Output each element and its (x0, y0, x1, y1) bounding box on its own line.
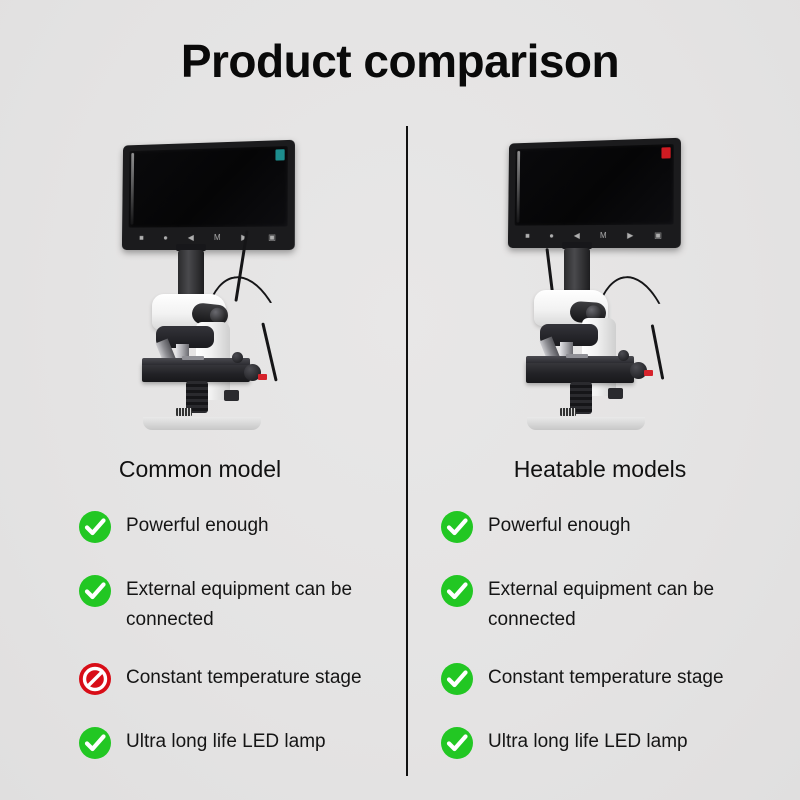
feature-row: External equipment can be connected (440, 573, 800, 635)
control-button-power[interactable]: ■ (525, 232, 530, 240)
stage-clip (182, 356, 204, 360)
feature-label: External equipment can be connected (488, 573, 738, 635)
control-button-mode[interactable]: M (214, 233, 221, 241)
lcd-monitor: ■ ● ◀ M ▶ ▣ (122, 140, 295, 250)
lcd-screen (129, 146, 288, 228)
control-button-prev[interactable]: ◀ (188, 234, 194, 242)
feature-row: Ultra long life LED lamp (440, 725, 800, 763)
power-switch[interactable] (608, 388, 623, 399)
check-circle-icon (78, 574, 112, 608)
feature-row: Constant temperature stage (440, 661, 800, 699)
monitor-control-bar: ■ ● ◀ M ▶ ▣ (129, 230, 286, 246)
product-image-heatable: ■ ● ◀ M ▶ ▣ (400, 126, 800, 451)
check-circle-icon (440, 726, 474, 760)
check-circle-icon (440, 510, 474, 544)
column-caption-heatable: Heatable models (400, 456, 800, 483)
base-label-plate (176, 408, 192, 416)
base-front-panel (527, 417, 645, 430)
lcd-screen (515, 144, 674, 226)
control-button-power[interactable]: ■ (139, 234, 144, 242)
check-circle-icon (440, 574, 474, 608)
column-caption-common: Common model (0, 456, 400, 483)
power-switch[interactable] (224, 390, 239, 401)
signal-cable-lower (261, 322, 277, 381)
check-circle-icon (78, 726, 112, 760)
control-button-mode[interactable]: M (600, 231, 607, 239)
feature-list-heatable: Powerful enough External equipment can b… (400, 509, 800, 789)
control-button-menu-dot[interactable]: ● (549, 232, 554, 240)
product-image-common: ■ ● ◀ M ▶ ▣ (0, 126, 400, 451)
feature-label: Constant temperature stage (126, 661, 362, 693)
feature-label: Constant temperature stage (488, 661, 724, 693)
comparison-column-heatable: ■ ● ◀ M ▶ ▣ (400, 126, 800, 786)
feature-label: Powerful enough (488, 509, 631, 541)
red-connector (644, 370, 653, 376)
feature-label: Ultra long life LED lamp (488, 725, 688, 757)
base-front-panel (143, 417, 261, 430)
check-circle-icon (440, 662, 474, 696)
feature-row: Powerful enough (440, 509, 800, 547)
fine-focus-knob[interactable] (618, 350, 629, 361)
control-button-menu-dot[interactable]: ● (163, 234, 168, 242)
stage-clip (566, 354, 588, 358)
control-button-capture[interactable]: ▣ (654, 231, 662, 239)
screen-logo-badge (275, 149, 284, 160)
screen-logo-badge (661, 147, 670, 158)
red-connector (258, 374, 267, 380)
comparison-column-common: ■ ● ◀ M ▶ ▣ (0, 126, 400, 786)
check-circle-icon (78, 510, 112, 544)
specimen-stage (142, 362, 250, 382)
control-button-next[interactable]: ▶ (627, 231, 633, 239)
feature-label: External equipment can be connected (126, 573, 376, 635)
feature-label: Powerful enough (126, 509, 269, 541)
page-title: Product comparison (0, 34, 800, 88)
comparison-page: Product comparison ■ ● ◀ M ▶ ▣ (0, 0, 800, 800)
base-label-plate (560, 408, 576, 416)
fine-focus-knob[interactable] (232, 352, 243, 363)
prohibit-circle-icon (78, 662, 112, 696)
specimen-stage-heated (526, 360, 634, 383)
control-button-capture[interactable]: ▣ (268, 233, 276, 241)
monitor-control-bar: ■ ● ◀ M ▶ ▣ (515, 228, 672, 244)
control-button-prev[interactable]: ◀ (574, 232, 580, 240)
feature-label: Ultra long life LED lamp (126, 725, 326, 757)
lcd-monitor: ■ ● ◀ M ▶ ▣ (508, 138, 681, 248)
